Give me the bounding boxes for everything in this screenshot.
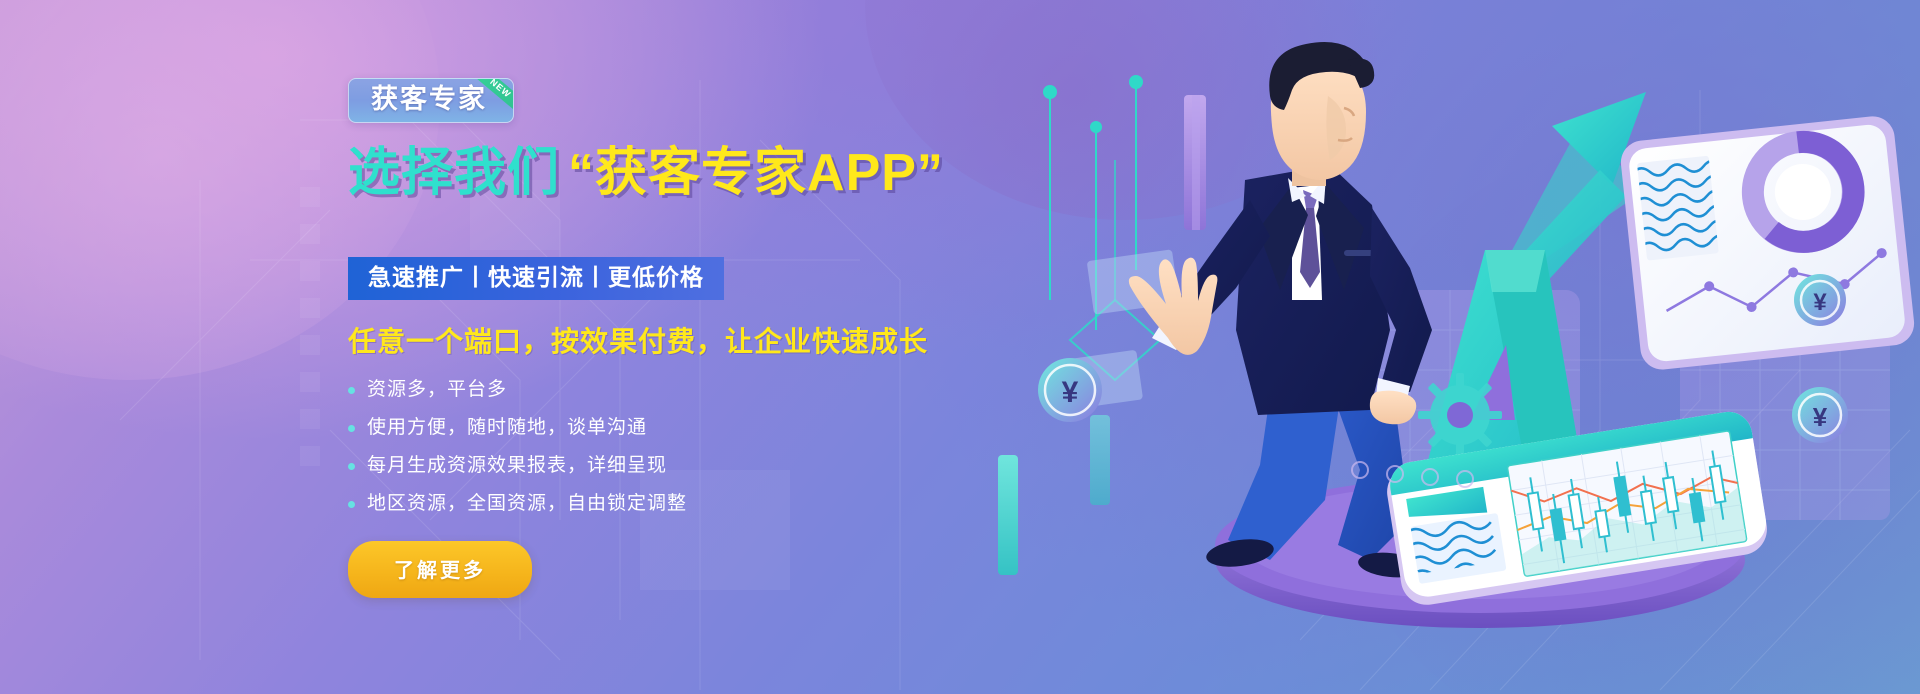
feature-badge: 急速推广丨快速引流丨更低价格 bbox=[348, 257, 724, 300]
promo-banner: 获客专家 NEW 选择我们“获客专家APP” 急速推广丨快速引流丨更低价格 任意… bbox=[0, 0, 1920, 694]
svg-text:¥: ¥ bbox=[1813, 402, 1828, 432]
line-chart bbox=[1662, 248, 1891, 321]
brand-tag-label: 获客专家 bbox=[371, 86, 487, 113]
page-title: 选择我们“获客专家APP” bbox=[348, 146, 988, 201]
background-grid-panels bbox=[1370, 290, 1890, 520]
banner-copy: 获客专家 NEW 选择我们“获客专家APP” 急速推广丨快速引流丨更低价格 任意… bbox=[348, 78, 988, 598]
headline-segment-primary: 选择我们 bbox=[348, 144, 560, 202]
floating-cards bbox=[1057, 249, 1179, 410]
list-item: 资源多，平台多 bbox=[348, 378, 988, 402]
list-item: 地区资源，全国资源，自由锁定调整 bbox=[348, 492, 988, 516]
background-blob-right bbox=[1330, 130, 1920, 694]
analytics-screen bbox=[1619, 114, 1917, 371]
coin-badge-1: ¥ bbox=[1038, 358, 1102, 422]
growth-arrow-icon bbox=[1480, 92, 1646, 326]
businessman-illustration bbox=[1129, 42, 1432, 580]
tagline: 任意一个端口，按效果付费，让企业快速成长 bbox=[348, 320, 988, 360]
bar-decoration bbox=[998, 95, 1206, 575]
donut-chart bbox=[1748, 137, 1859, 247]
decorative-square-column bbox=[300, 150, 346, 480]
tech-grid-right bbox=[1300, 0, 1920, 694]
podium-base bbox=[1215, 492, 1745, 628]
coin-badge-2: ¥ bbox=[1792, 387, 1848, 443]
stem-dots-decoration bbox=[1043, 75, 1160, 380]
headline-segment-accent: “获客专家APP” bbox=[568, 144, 944, 202]
svg-text:¥: ¥ bbox=[1062, 376, 1079, 409]
hero-illustration: ¥ ¥ ¥ bbox=[940, 0, 1920, 694]
brand-tag-pill[interactable]: 获客专家 NEW bbox=[348, 78, 514, 123]
list-item: 每月生成资源效果报表，详细呈现 bbox=[348, 454, 988, 478]
letter-a-3d bbox=[1405, 250, 1595, 545]
svg-text:¥: ¥ bbox=[1813, 289, 1827, 316]
coin-badge-3: ¥ bbox=[1794, 274, 1846, 326]
learn-more-button[interactable]: 了解更多 bbox=[348, 541, 532, 598]
feature-list: 资源多，平台多 使用方便，随时随地，谈单沟通 每月生成资源效果报表，详细呈现 地… bbox=[348, 378, 988, 515]
podium-top bbox=[1215, 477, 1745, 613]
trading-screen bbox=[1383, 408, 1771, 608]
gear-icon bbox=[1418, 373, 1502, 457]
podium-dots bbox=[1352, 462, 1473, 487]
podium-highlight bbox=[1240, 483, 1720, 599]
list-item: 使用方便，随时随地，谈单沟通 bbox=[348, 416, 988, 440]
